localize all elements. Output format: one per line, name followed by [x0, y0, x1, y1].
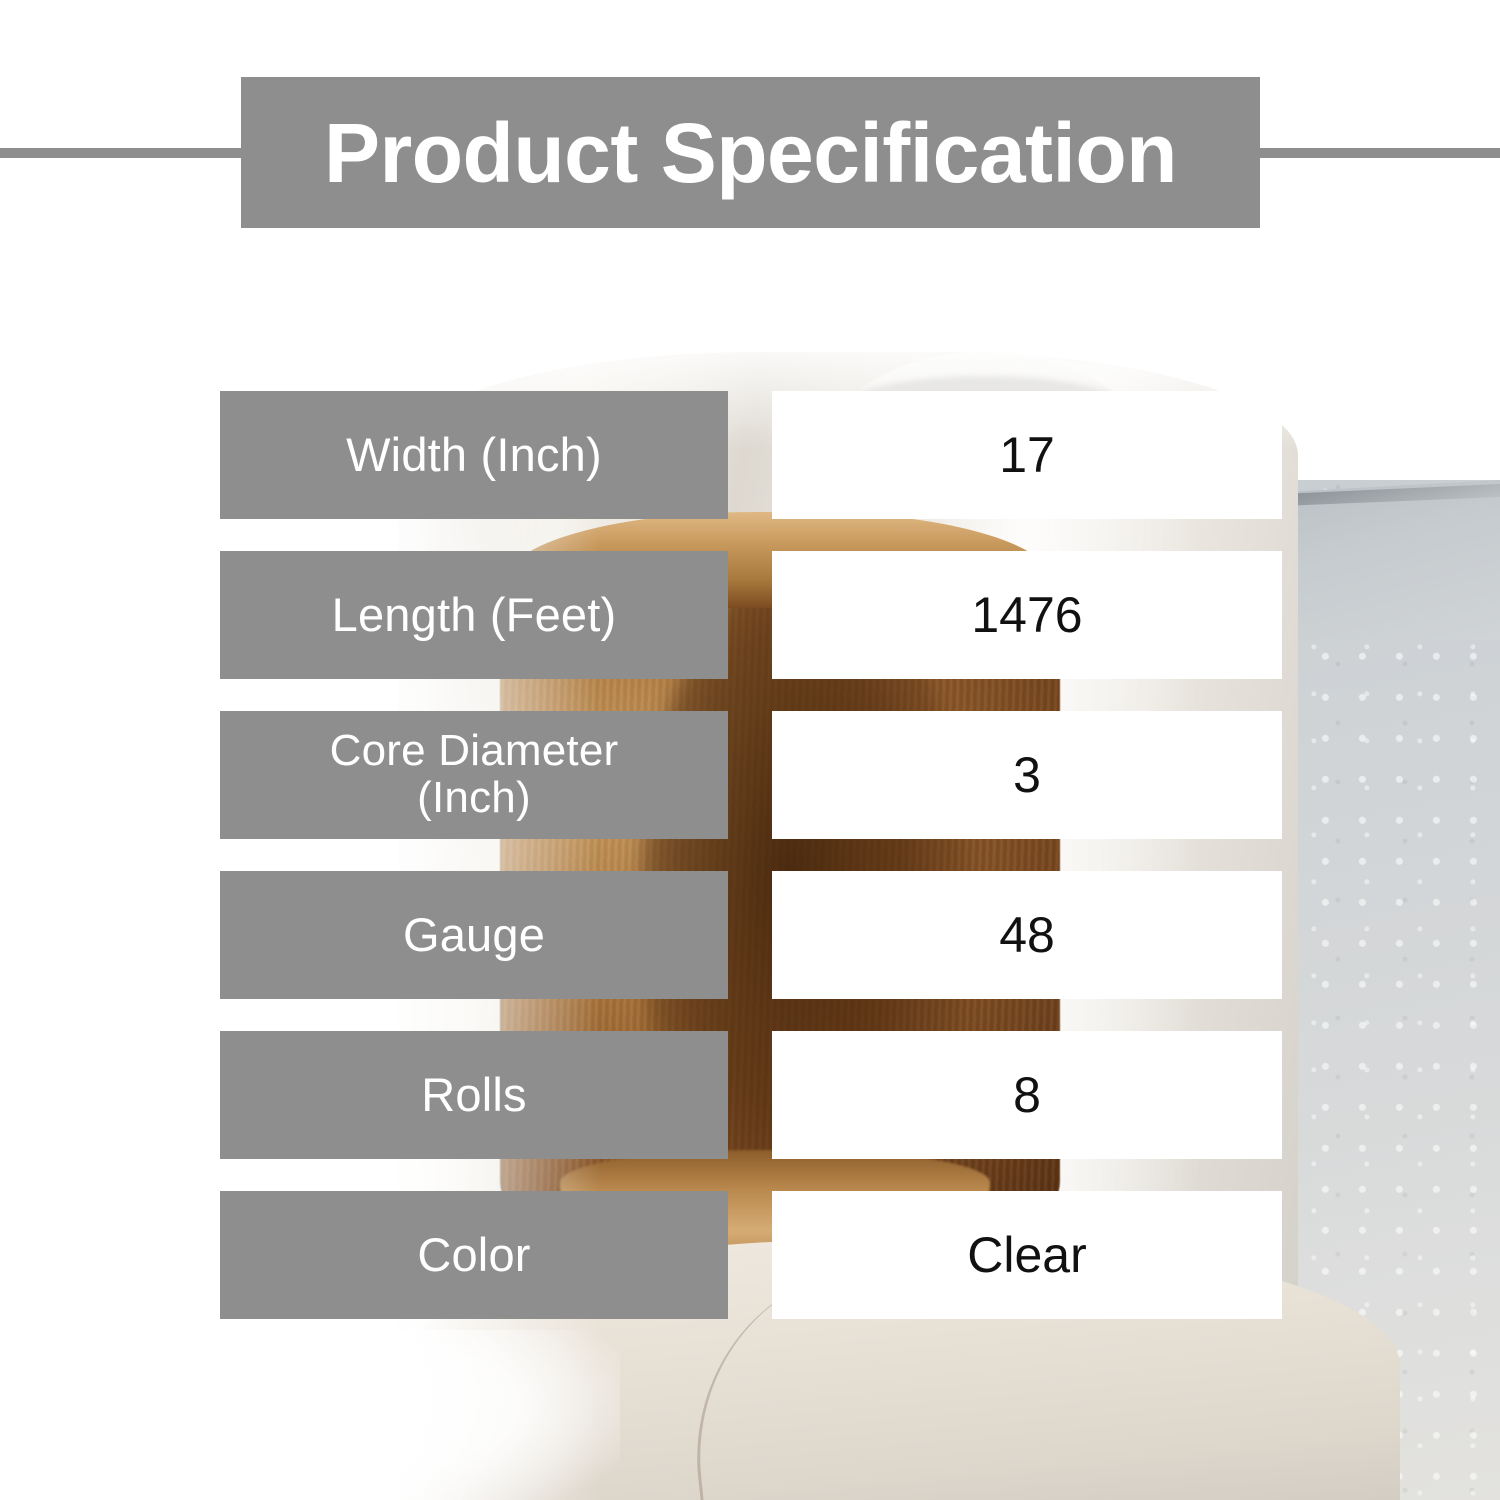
- spec-value-width: 17: [772, 391, 1282, 519]
- spec-value-rolls: 8: [772, 1031, 1282, 1159]
- spec-label-length: Length (Feet): [220, 551, 728, 679]
- spec-label-core-diameter: Core Diameter (Inch): [220, 711, 728, 839]
- spec-label-rolls: Rolls: [220, 1031, 728, 1159]
- specification-table: Width (Inch) 17 Length (Feet) 1476 Core …: [0, 0, 1500, 1500]
- spec-value-gauge: 48: [772, 871, 1282, 999]
- spec-value-core-diameter: 3: [772, 711, 1282, 839]
- spec-label-core-diameter-line2: (Inch): [417, 773, 531, 822]
- spec-value-color: Clear: [772, 1191, 1282, 1319]
- spec-label-color: Color: [220, 1191, 728, 1319]
- spec-label-width: Width (Inch): [220, 391, 728, 519]
- spec-label-core-diameter-line1: Core Diameter: [330, 726, 619, 775]
- spec-value-length: 1476: [772, 551, 1282, 679]
- spec-label-gauge: Gauge: [220, 871, 728, 999]
